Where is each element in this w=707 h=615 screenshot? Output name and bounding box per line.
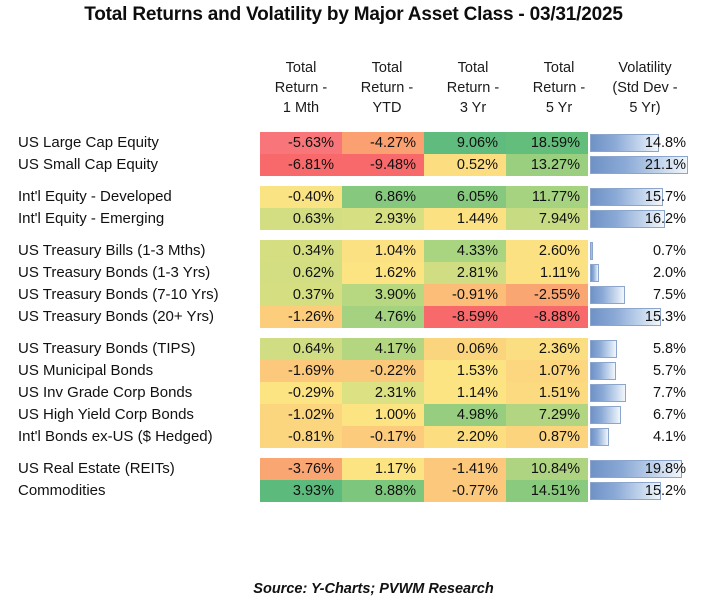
return-cell-2: 3.90% <box>342 284 424 306</box>
column-header-line-1: Total <box>432 58 514 78</box>
return-cell-3: 6.05% <box>424 186 506 208</box>
asset-group-4: US Treasury Bonds (TIPS)0.64%4.17%0.06%2… <box>0 338 707 448</box>
asset-class-label: US Treasury Bonds (20+ Yrs) <box>18 306 214 328</box>
return-cell-4: 7.29% <box>506 404 588 426</box>
volatility-cell: 2.0% <box>590 262 690 284</box>
return-cell-4: 2.60% <box>506 240 588 262</box>
asset-class-label: US Small Cap Equity <box>18 154 158 176</box>
return-cell-2: -0.22% <box>342 360 424 382</box>
return-cell-4: 14.51% <box>506 480 588 502</box>
table-row: US Municipal Bonds-1.69%-0.22%1.53%1.07%… <box>0 360 707 382</box>
return-cell-1: 0.34% <box>260 240 342 262</box>
asset-class-label: US Real Estate (REITs) <box>18 458 175 480</box>
return-cell-4: 1.11% <box>506 262 588 284</box>
table-row: US Small Cap Equity-6.81%-9.48%0.52%13.2… <box>0 154 707 176</box>
return-cell-2: 1.62% <box>342 262 424 284</box>
volatility-cell: 15.2% <box>590 480 690 502</box>
table-row: US Treasury Bonds (TIPS)0.64%4.17%0.06%2… <box>0 338 707 360</box>
column-header-line-3: 3 Yr <box>432 98 514 118</box>
return-cell-3: 4.98% <box>424 404 506 426</box>
table-row: Int'l Equity - Emerging0.63%2.93%1.44%7.… <box>0 208 707 230</box>
volatility-cell: 15.3% <box>590 306 690 328</box>
column-header-1: TotalReturn -1 Mth <box>260 58 342 118</box>
return-cell-4: 11.77% <box>506 186 588 208</box>
table-row: Int'l Equity - Developed-0.40%6.86%6.05%… <box>0 186 707 208</box>
column-header-line-2: Return - <box>260 78 342 98</box>
asset-class-label: US Treasury Bonds (1-3 Yrs) <box>18 262 210 284</box>
volatility-value: 16.2% <box>590 208 686 230</box>
return-cell-1: -0.40% <box>260 186 342 208</box>
column-header-line-1: Volatility <box>604 58 686 78</box>
return-cell-1: -1.02% <box>260 404 342 426</box>
volatility-cell: 6.7% <box>590 404 690 426</box>
volatility-value: 21.1% <box>590 154 686 176</box>
asset-class-label: US Municipal Bonds <box>18 360 153 382</box>
volatility-cell: 0.7% <box>590 240 690 262</box>
volatility-cell: 19.8% <box>590 458 690 480</box>
return-cell-4: 13.27% <box>506 154 588 176</box>
table-row: US Treasury Bonds (7-10 Yrs)0.37%3.90%-0… <box>0 284 707 306</box>
volatility-value: 7.7% <box>590 382 686 404</box>
volatility-cell: 21.1% <box>590 154 690 176</box>
return-cell-1: 0.62% <box>260 262 342 284</box>
return-cell-3: 2.20% <box>424 426 506 448</box>
return-cell-4: 1.51% <box>506 382 588 404</box>
column-header-line-3: 5 Yr) <box>604 98 686 118</box>
volatility-value: 15.3% <box>590 306 686 328</box>
table-row: US Large Cap Equity-5.63%-4.27%9.06%18.5… <box>0 132 707 154</box>
return-cell-2: 8.88% <box>342 480 424 502</box>
column-header-line-1: Total <box>518 58 600 78</box>
column-header-line-1: Total <box>346 58 428 78</box>
table-row: US Real Estate (REITs)-3.76%1.17%-1.41%1… <box>0 458 707 480</box>
table-row: US High Yield Corp Bonds-1.02%1.00%4.98%… <box>0 404 707 426</box>
asset-class-label: US Treasury Bonds (TIPS) <box>18 338 196 360</box>
volatility-value: 15.7% <box>590 186 686 208</box>
asset-class-label: Int'l Equity - Emerging <box>18 208 164 230</box>
asset-class-label: Int'l Bonds ex-US ($ Hedged) <box>18 426 213 448</box>
return-cell-2: 2.31% <box>342 382 424 404</box>
volatility-value: 0.7% <box>590 240 686 262</box>
return-cell-3: 4.33% <box>424 240 506 262</box>
column-header-2: TotalReturn -YTD <box>346 58 428 118</box>
return-cell-1: 0.63% <box>260 208 342 230</box>
return-cell-1: -3.76% <box>260 458 342 480</box>
return-cell-2: 2.93% <box>342 208 424 230</box>
asset-class-table: US Large Cap Equity-5.63%-4.27%9.06%18.5… <box>0 132 707 512</box>
return-cell-4: -8.88% <box>506 306 588 328</box>
asset-class-label: Commodities <box>18 480 106 502</box>
asset-group-5: US Real Estate (REITs)-3.76%1.17%-1.41%1… <box>0 458 707 502</box>
column-header-line-1: Total <box>260 58 342 78</box>
volatility-value: 2.0% <box>590 262 686 284</box>
volatility-value: 7.5% <box>590 284 686 306</box>
table-row: Commodities3.93%8.88%-0.77%14.51%15.2% <box>0 480 707 502</box>
return-cell-4: 7.94% <box>506 208 588 230</box>
table-row: US Treasury Bonds (1-3 Yrs)0.62%1.62%2.8… <box>0 262 707 284</box>
return-cell-3: 1.44% <box>424 208 506 230</box>
return-cell-2: -4.27% <box>342 132 424 154</box>
return-cell-3: 1.53% <box>424 360 506 382</box>
asset-class-label: US Treasury Bills (1-3 Mths) <box>18 240 206 262</box>
return-cell-1: 3.93% <box>260 480 342 502</box>
volatility-value: 4.1% <box>590 426 686 448</box>
asset-class-label: US Inv Grade Corp Bonds <box>18 382 192 404</box>
column-header-line-3: 5 Yr <box>518 98 600 118</box>
volatility-cell: 7.7% <box>590 382 690 404</box>
asset-class-label: US Large Cap Equity <box>18 132 159 154</box>
asset-group-2: Int'l Equity - Developed-0.40%6.86%6.05%… <box>0 186 707 230</box>
asset-class-label: US High Yield Corp Bonds <box>18 404 194 426</box>
return-cell-1: -1.26% <box>260 306 342 328</box>
volatility-value: 15.2% <box>590 480 686 502</box>
volatility-value: 5.8% <box>590 338 686 360</box>
source-note: Source: Y-Charts; PVWM Research <box>0 581 707 597</box>
asset-group-3: US Treasury Bills (1-3 Mths)0.34%1.04%4.… <box>0 240 707 328</box>
return-cell-4: 2.36% <box>506 338 588 360</box>
table-row: Int'l Bonds ex-US ($ Hedged)-0.81%-0.17%… <box>0 426 707 448</box>
return-cell-2: 6.86% <box>342 186 424 208</box>
return-cell-2: -9.48% <box>342 154 424 176</box>
volatility-cell: 14.8% <box>590 132 690 154</box>
volatility-cell: 15.7% <box>590 186 690 208</box>
volatility-cell: 5.7% <box>590 360 690 382</box>
return-cell-4: -2.55% <box>506 284 588 306</box>
column-header-line-2: Return - <box>518 78 600 98</box>
return-cell-2: 4.76% <box>342 306 424 328</box>
return-cell-1: -0.29% <box>260 382 342 404</box>
return-cell-4: 10.84% <box>506 458 588 480</box>
return-cell-3: 1.14% <box>424 382 506 404</box>
asset-class-label: US Treasury Bonds (7-10 Yrs) <box>18 284 219 306</box>
volatility-cell: 16.2% <box>590 208 690 230</box>
return-cell-4: 0.87% <box>506 426 588 448</box>
column-header-4: TotalReturn -5 Yr <box>518 58 600 118</box>
return-cell-3: -8.59% <box>424 306 506 328</box>
return-cell-1: -1.69% <box>260 360 342 382</box>
volatility-value: 5.7% <box>590 360 686 382</box>
return-cell-3: 0.06% <box>424 338 506 360</box>
return-cell-2: 1.04% <box>342 240 424 262</box>
return-cell-3: -1.41% <box>424 458 506 480</box>
table-row: US Treasury Bills (1-3 Mths)0.34%1.04%4.… <box>0 240 707 262</box>
column-header-line-2: Return - <box>432 78 514 98</box>
volatility-value: 19.8% <box>590 458 686 480</box>
volatility-value: 6.7% <box>590 404 686 426</box>
column-header-line-3: 1 Mth <box>260 98 342 118</box>
asset-class-label: Int'l Equity - Developed <box>18 186 172 208</box>
return-cell-1: -0.81% <box>260 426 342 448</box>
column-header-line-2: Return - <box>346 78 428 98</box>
return-cell-1: 0.64% <box>260 338 342 360</box>
column-header-5: Volatility(Std Dev -5 Yr) <box>604 58 686 118</box>
return-cell-3: 0.52% <box>424 154 506 176</box>
return-cell-3: -0.77% <box>424 480 506 502</box>
return-cell-1: -5.63% <box>260 132 342 154</box>
column-header-line-2: (Std Dev - <box>604 78 686 98</box>
volatility-value: 14.8% <box>590 132 686 154</box>
asset-group-1: US Large Cap Equity-5.63%-4.27%9.06%18.5… <box>0 132 707 176</box>
return-cell-1: 0.37% <box>260 284 342 306</box>
return-cell-2: 1.17% <box>342 458 424 480</box>
volatility-cell: 4.1% <box>590 426 690 448</box>
column-header-line-3: YTD <box>346 98 428 118</box>
table-row: US Inv Grade Corp Bonds-0.29%2.31%1.14%1… <box>0 382 707 404</box>
return-cell-1: -6.81% <box>260 154 342 176</box>
return-cell-2: 4.17% <box>342 338 424 360</box>
return-cell-3: 9.06% <box>424 132 506 154</box>
return-cell-3: -0.91% <box>424 284 506 306</box>
volatility-cell: 7.5% <box>590 284 690 306</box>
column-header-3: TotalReturn -3 Yr <box>432 58 514 118</box>
return-cell-2: -0.17% <box>342 426 424 448</box>
table-row: US Treasury Bonds (20+ Yrs)-1.26%4.76%-8… <box>0 306 707 328</box>
return-cell-4: 1.07% <box>506 360 588 382</box>
volatility-cell: 5.8% <box>590 338 690 360</box>
return-cell-4: 18.59% <box>506 132 588 154</box>
return-cell-3: 2.81% <box>424 262 506 284</box>
column-header-row: TotalReturn -1 MthTotalReturn -YTDTotalR… <box>260 58 690 120</box>
page-title: Total Returns and Volatility by Major As… <box>0 4 707 26</box>
return-cell-2: 1.00% <box>342 404 424 426</box>
